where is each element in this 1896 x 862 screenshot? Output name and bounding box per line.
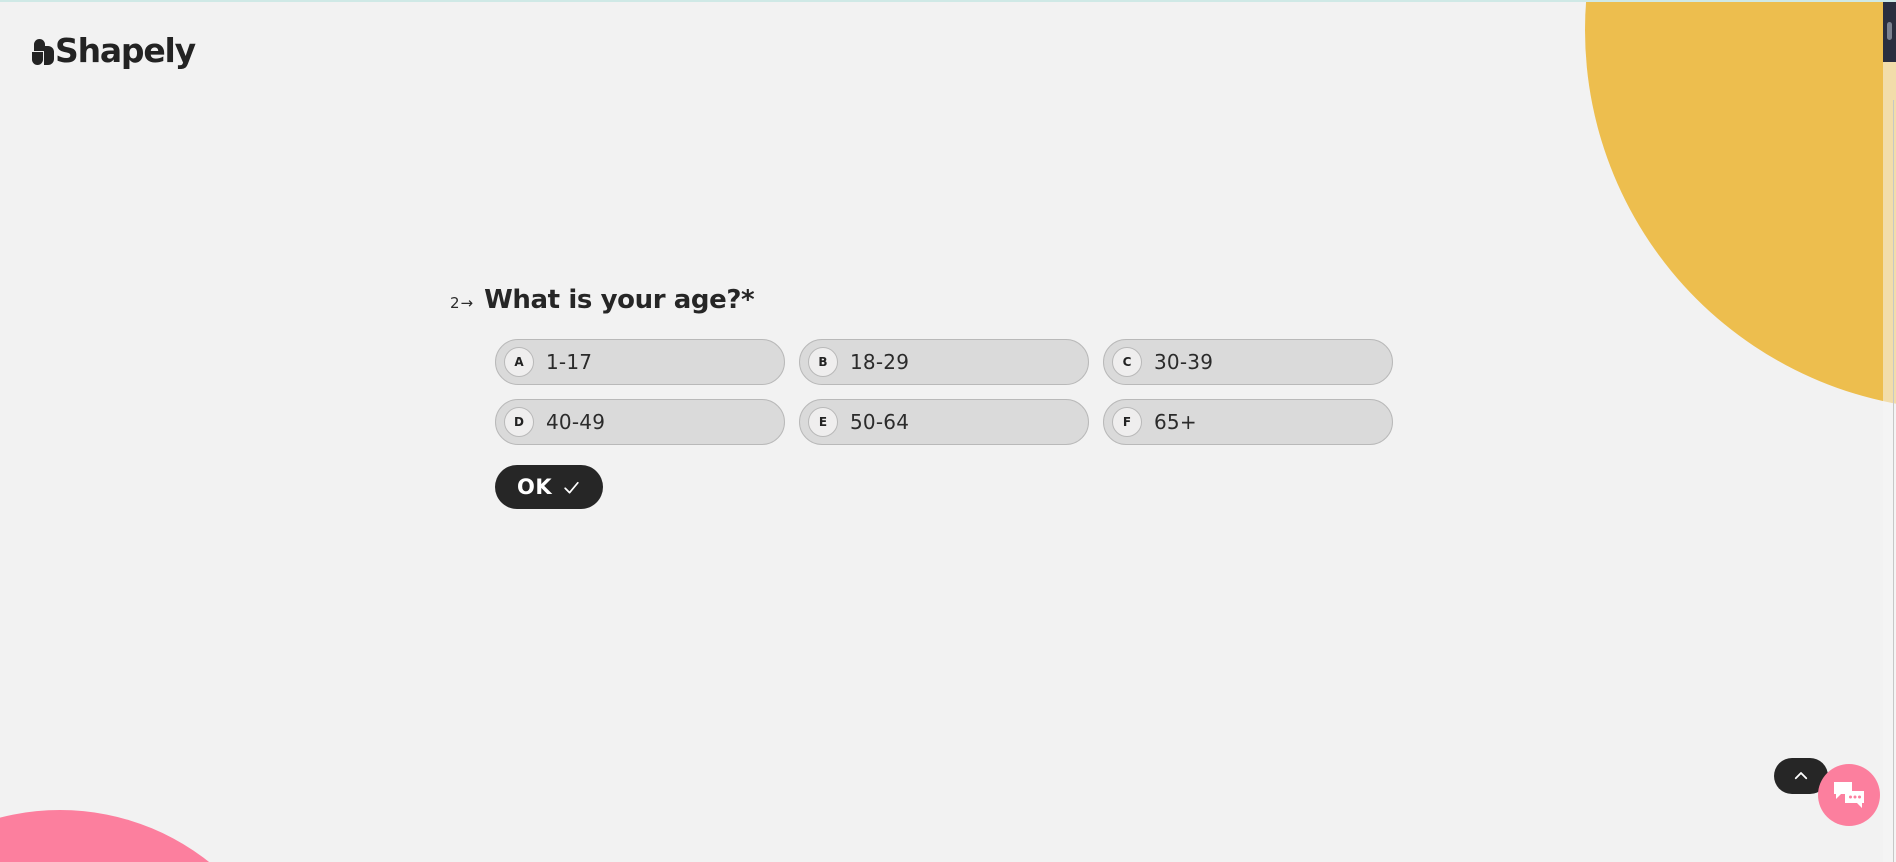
answer-options: A 1-17 B 18-29 C 30-39 D 40-49 E 50-64 F… (495, 339, 1393, 445)
option-label: 1-17 (546, 350, 592, 374)
option-key-badge: F (1112, 407, 1142, 437)
option-a[interactable]: A 1-17 (495, 339, 785, 385)
decorative-yellow-circle (1585, 0, 1896, 410)
submit-row: OK (495, 465, 1393, 509)
option-label: 65+ (1154, 410, 1197, 434)
chat-bubbles-icon (1832, 780, 1866, 810)
option-label: 40-49 (546, 410, 605, 434)
check-icon (562, 478, 581, 497)
question-title: What is your age?* (484, 285, 754, 315)
option-b[interactable]: B 18-29 (799, 339, 1089, 385)
option-label: 18-29 (850, 350, 909, 374)
option-key-badge: C (1112, 347, 1142, 377)
option-key-badge: A (504, 347, 534, 377)
question-header: 2→ What is your age?* (450, 285, 1393, 315)
option-key-badge: D (504, 407, 534, 437)
brand-name: Shapely (55, 34, 195, 67)
brand-logo[interactable]: Shapely (32, 30, 195, 70)
page-scrollbar-thumb[interactable] (1883, 0, 1896, 62)
shapely-s-mark-icon (32, 39, 54, 65)
option-key-badge: E (808, 407, 838, 437)
question-number: 2→ (450, 294, 474, 312)
option-key-badge: B (808, 347, 838, 377)
option-label: 50-64 (850, 410, 909, 434)
top-accent-line (0, 0, 1896, 2)
scrollbar-thumb-grip (1887, 22, 1892, 40)
page-scrollbar-track[interactable] (1883, 0, 1896, 862)
option-label: 30-39 (1154, 350, 1213, 374)
ok-submit-button[interactable]: OK (495, 465, 603, 509)
question-form: 2→ What is your age?* A 1-17 B 18-29 C 3… (450, 285, 1393, 509)
chevron-up-icon (1792, 767, 1810, 785)
chat-launcher-button[interactable] (1818, 764, 1880, 826)
option-c[interactable]: C 30-39 (1103, 339, 1393, 385)
ok-label: OK (517, 475, 552, 499)
page-scrollbar-divider (1893, 100, 1894, 862)
decorative-pink-circle (0, 810, 300, 862)
option-f[interactable]: F 65+ (1103, 399, 1393, 445)
option-d[interactable]: D 40-49 (495, 399, 785, 445)
option-e[interactable]: E 50-64 (799, 399, 1089, 445)
